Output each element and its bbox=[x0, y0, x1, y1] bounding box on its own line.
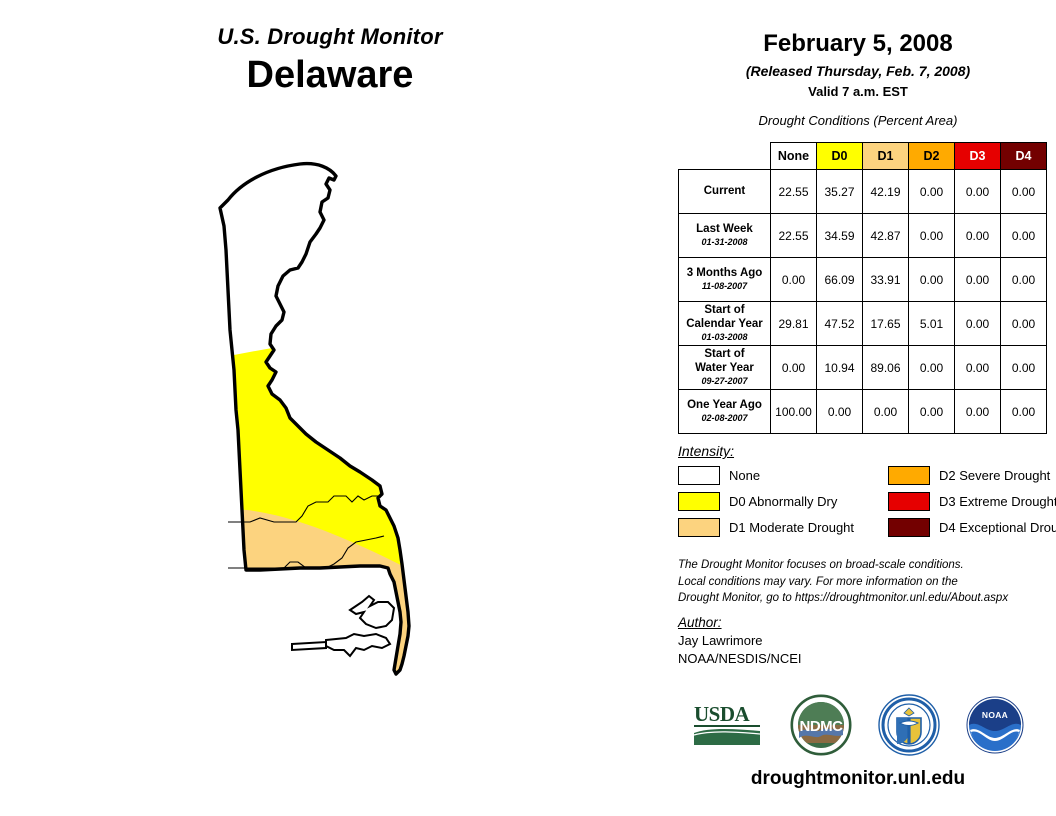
column-header-d3: D3 bbox=[955, 143, 1001, 170]
author-block: Author: Jay Lawrimore NOAA/NESDIS/NCEI bbox=[678, 615, 1054, 666]
usda-logo: USDA bbox=[692, 701, 764, 749]
legend-label-d0: D0 Abnormally Dry bbox=[729, 494, 837, 509]
disclaimer-line-1: The Drought Monitor focuses on broad-sca… bbox=[678, 557, 1054, 574]
legend-label-d3: D3 Extreme Drought bbox=[939, 494, 1056, 509]
table-cell-d0: 0.00 bbox=[817, 390, 863, 434]
swatch-d2-icon bbox=[888, 466, 930, 485]
row-label: Start ofCalendar Year01-03-2008 bbox=[679, 302, 771, 346]
row-label: Current bbox=[679, 170, 771, 214]
table-cell-d3: 0.00 bbox=[955, 170, 1001, 214]
row-label: 3 Months Ago11-08-2007 bbox=[679, 258, 771, 302]
map-region-d0 bbox=[150, 150, 530, 790]
noaa-logo: NOAA bbox=[966, 696, 1024, 754]
table-cell-d4: 0.00 bbox=[1001, 390, 1047, 434]
table-cell-none: 22.55 bbox=[771, 170, 817, 214]
state-title: Delaware bbox=[0, 56, 660, 96]
disclaimer-line-2: Local conditions may vary. For more info… bbox=[678, 574, 1054, 591]
svg-text:NDMC: NDMC bbox=[800, 718, 844, 735]
table-cell-d3: 0.00 bbox=[955, 214, 1001, 258]
legend-label-d1: D1 Moderate Drought bbox=[729, 520, 854, 535]
table-cell-d1: 17.65 bbox=[863, 302, 909, 346]
table-cell-d0: 47.52 bbox=[817, 302, 863, 346]
delaware-map-svg bbox=[150, 150, 530, 790]
table-cell-d2: 0.00 bbox=[909, 258, 955, 302]
table-caption: Drought Conditions (Percent Area) bbox=[660, 113, 1056, 128]
row-label: One Year Ago02-08-2007 bbox=[679, 390, 771, 434]
table-cell-d1: 42.87 bbox=[863, 214, 909, 258]
table-cell-d3: 0.00 bbox=[955, 346, 1001, 390]
table-corner-cell bbox=[679, 143, 771, 170]
table-cell-d1: 89.06 bbox=[863, 346, 909, 390]
valid-time: Valid 7 a.m. EST bbox=[660, 84, 1056, 99]
row-label-date: 11-08-2007 bbox=[682, 281, 767, 292]
legend-label-d2: D2 Severe Drought bbox=[939, 468, 1050, 483]
row-label-date: 01-03-2008 bbox=[682, 332, 767, 343]
usdc-logo bbox=[878, 694, 940, 756]
swatch-d3-icon bbox=[888, 492, 930, 511]
legend-label-d4: D4 Exceptional Drought bbox=[939, 520, 1056, 535]
legend-item-d2: D2 Severe Drought bbox=[888, 466, 1056, 485]
row-label: Last Week01-31-2008 bbox=[679, 214, 771, 258]
table-row: Last Week01-31-200822.5534.5942.870.000.… bbox=[679, 214, 1047, 258]
intensity-legend: Intensity: None D2 Severe Drought D0 Abn… bbox=[678, 443, 1054, 537]
release-date: (Released Thursday, Feb. 7, 2008) bbox=[660, 63, 1056, 79]
logo-row: USDA NDMC bbox=[660, 690, 1056, 760]
intensity-legend-title: Intensity: bbox=[678, 443, 1054, 459]
table-cell-d0: 35.27 bbox=[817, 170, 863, 214]
row-label-line: Current bbox=[682, 185, 767, 199]
column-header-d4: D4 bbox=[1001, 143, 1047, 170]
table-row: Start ofWater Year09-27-20070.0010.9489.… bbox=[679, 346, 1047, 390]
table-cell-none: 100.00 bbox=[771, 390, 817, 434]
row-label-line: Calendar Year bbox=[682, 318, 767, 332]
table-cell-none: 0.00 bbox=[771, 346, 817, 390]
table-cell-d1: 42.19 bbox=[863, 170, 909, 214]
disclaimer-text: The Drought Monitor focuses on broad-sca… bbox=[678, 557, 1054, 607]
author-name: Jay Lawrimore bbox=[678, 633, 1054, 648]
table-body: Current22.5535.2742.190.000.000.00Last W… bbox=[679, 170, 1047, 434]
svg-text:USDA: USDA bbox=[694, 702, 751, 726]
table-cell-d3: 0.00 bbox=[955, 390, 1001, 434]
date-block: February 5, 2008 (Released Thursday, Feb… bbox=[660, 0, 1056, 99]
table-cell-d0: 10.94 bbox=[817, 346, 863, 390]
drought-conditions-table: None D0 D1 D2 D3 D4 Current22.5535.2742.… bbox=[678, 142, 1047, 434]
table-cell-d2: 0.00 bbox=[909, 390, 955, 434]
legend-label-none: None bbox=[729, 468, 760, 483]
table-cell-d2: 0.00 bbox=[909, 346, 955, 390]
row-label-line: Water Year bbox=[682, 362, 767, 376]
column-header-none: None bbox=[771, 143, 817, 170]
table-row: 3 Months Ago11-08-20070.0066.0933.910.00… bbox=[679, 258, 1047, 302]
table-cell-d3: 0.00 bbox=[955, 302, 1001, 346]
intensity-legend-grid: None D2 Severe Drought D0 Abnormally Dry… bbox=[678, 466, 1054, 537]
issue-date: February 5, 2008 bbox=[660, 30, 1056, 58]
site-url[interactable]: droughtmonitor.unl.edu bbox=[660, 768, 1056, 790]
table-row: Current22.5535.2742.190.000.000.00 bbox=[679, 170, 1047, 214]
row-label-line: One Year Ago bbox=[682, 399, 767, 413]
title-block: U.S. Drought Monitor Delaware bbox=[0, 24, 660, 96]
legend-item-d4: D4 Exceptional Drought bbox=[888, 518, 1056, 537]
table-row: One Year Ago02-08-2007100.000.000.000.00… bbox=[679, 390, 1047, 434]
table-cell-d4: 0.00 bbox=[1001, 258, 1047, 302]
swatch-none-icon bbox=[678, 466, 720, 485]
table-cell-none: 22.55 bbox=[771, 214, 817, 258]
row-label-line: Last Week bbox=[682, 223, 767, 237]
author-affiliation: NOAA/NESDIS/NCEI bbox=[678, 651, 1054, 666]
column-header-d0: D0 bbox=[817, 143, 863, 170]
table-cell-d4: 0.00 bbox=[1001, 346, 1047, 390]
table-cell-d3: 0.00 bbox=[955, 258, 1001, 302]
table-row: Start ofCalendar Year01-03-200829.8147.5… bbox=[679, 302, 1047, 346]
row-label-line: Start of bbox=[682, 348, 767, 362]
legend-item-d0: D0 Abnormally Dry bbox=[678, 492, 888, 511]
svg-text:NOAA: NOAA bbox=[982, 710, 1008, 720]
row-label-line: 3 Months Ago bbox=[682, 267, 767, 281]
table-cell-d2: 0.00 bbox=[909, 170, 955, 214]
author-title: Author: bbox=[678, 615, 1054, 630]
table-cell-d1: 0.00 bbox=[863, 390, 909, 434]
row-label-date: 01-31-2008 bbox=[682, 237, 767, 248]
table-cell-none: 29.81 bbox=[771, 302, 817, 346]
table-cell-d1: 33.91 bbox=[863, 258, 909, 302]
column-header-d2: D2 bbox=[909, 143, 955, 170]
legend-item-d1: D1 Moderate Drought bbox=[678, 518, 888, 537]
drought-map bbox=[150, 150, 530, 790]
swatch-d0-icon bbox=[678, 492, 720, 511]
table-cell-d2: 0.00 bbox=[909, 214, 955, 258]
table-cell-d2: 5.01 bbox=[909, 302, 955, 346]
column-header-d1: D1 bbox=[863, 143, 909, 170]
table-cell-d0: 34.59 bbox=[817, 214, 863, 258]
table-cell-d0: 66.09 bbox=[817, 258, 863, 302]
swatch-d1-icon bbox=[678, 518, 720, 537]
table-cell-d4: 0.00 bbox=[1001, 170, 1047, 214]
row-label-line: Start of bbox=[682, 304, 767, 318]
row-label: Start ofWater Year09-27-2007 bbox=[679, 346, 771, 390]
disclaimer-line-3: Drought Monitor, go to https://droughtmo… bbox=[678, 590, 1054, 607]
table-cell-d4: 0.00 bbox=[1001, 302, 1047, 346]
right-panel: February 5, 2008 (Released Thursday, Feb… bbox=[660, 0, 1056, 816]
row-label-date: 02-08-2007 bbox=[682, 413, 767, 424]
legend-item-none: None bbox=[678, 466, 888, 485]
inland-bays bbox=[292, 596, 394, 656]
legend-item-d3: D3 Extreme Drought bbox=[888, 492, 1056, 511]
swatch-d4-icon bbox=[888, 518, 930, 537]
program-title: U.S. Drought Monitor bbox=[0, 24, 660, 50]
row-label-date: 09-27-2007 bbox=[682, 376, 767, 387]
table-header-row: None D0 D1 D2 D3 D4 bbox=[679, 143, 1047, 170]
ndmc-logo: NDMC bbox=[790, 694, 852, 756]
table-cell-none: 0.00 bbox=[771, 258, 817, 302]
table-cell-d4: 0.00 bbox=[1001, 214, 1047, 258]
